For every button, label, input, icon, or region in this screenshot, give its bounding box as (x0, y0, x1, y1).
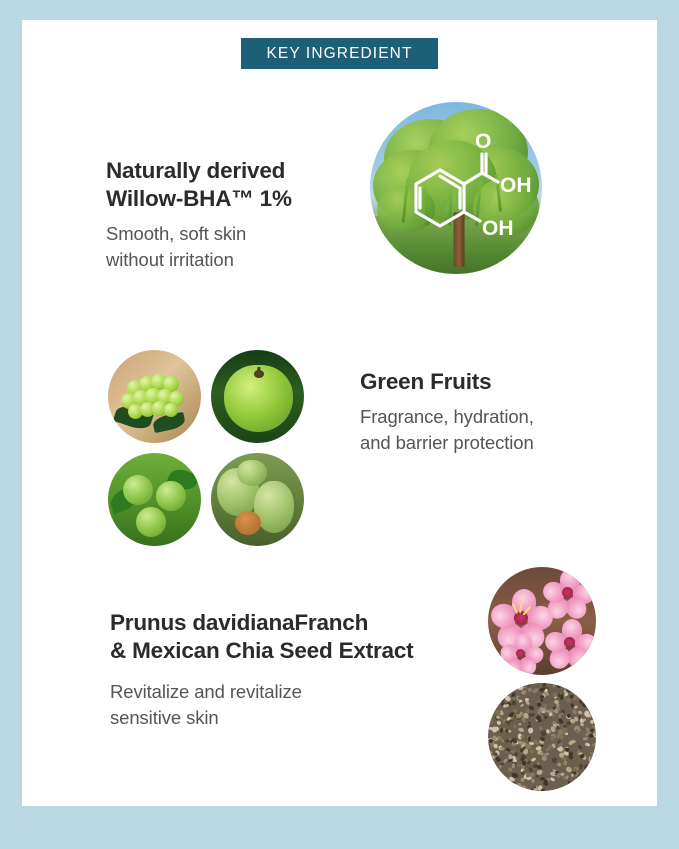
section-prunus-chia-body: Revitalize and revitalize sensitive skin (110, 679, 490, 731)
green-apple-photo (211, 350, 304, 443)
peach-blossom-photo (488, 567, 596, 675)
section-prunus-chia-heading: Prunus davidianaFranch & Mexican Chia Se… (110, 609, 490, 665)
green-papaya-photo (211, 453, 304, 546)
green-fruits-image-grid (108, 350, 304, 546)
section-green-fruits-heading: Green Fruits (360, 368, 620, 396)
section-green-fruits-text: Green Fruits Fragrance, hydration, and b… (360, 368, 620, 456)
key-ingredient-badge: KEY INGREDIENT (241, 38, 438, 69)
infographic-page: KEY INGREDIENT Naturally derived Willow-… (0, 0, 679, 849)
chem-label-oh-2: OH (482, 217, 514, 240)
content-panel: KEY INGREDIENT Naturally derived Willow-… (22, 20, 657, 806)
salicylic-acid-structure: O OH OH (370, 102, 542, 274)
chem-label-o: O (475, 130, 491, 153)
key-ingredient-badge-label: KEY INGREDIENT (266, 45, 412, 63)
section-willow-bha-body: Smooth, soft skin without irritation (106, 221, 356, 273)
chem-label-oh-1: OH (500, 174, 532, 197)
section-prunus-chia-text: Prunus davidianaFranch & Mexican Chia Se… (110, 609, 490, 731)
willow-tree-photo: O OH OH (370, 102, 542, 274)
green-figs-photo (108, 453, 201, 546)
section-willow-bha-text: Naturally derived Willow-BHA™ 1% Smooth,… (106, 157, 356, 273)
chia-seed-photo (488, 683, 596, 791)
green-grapes-photo (108, 350, 201, 443)
section-willow-bha-heading: Naturally derived Willow-BHA™ 1% (106, 157, 356, 213)
section-green-fruits-body: Fragrance, hydration, and barrier protec… (360, 404, 620, 456)
